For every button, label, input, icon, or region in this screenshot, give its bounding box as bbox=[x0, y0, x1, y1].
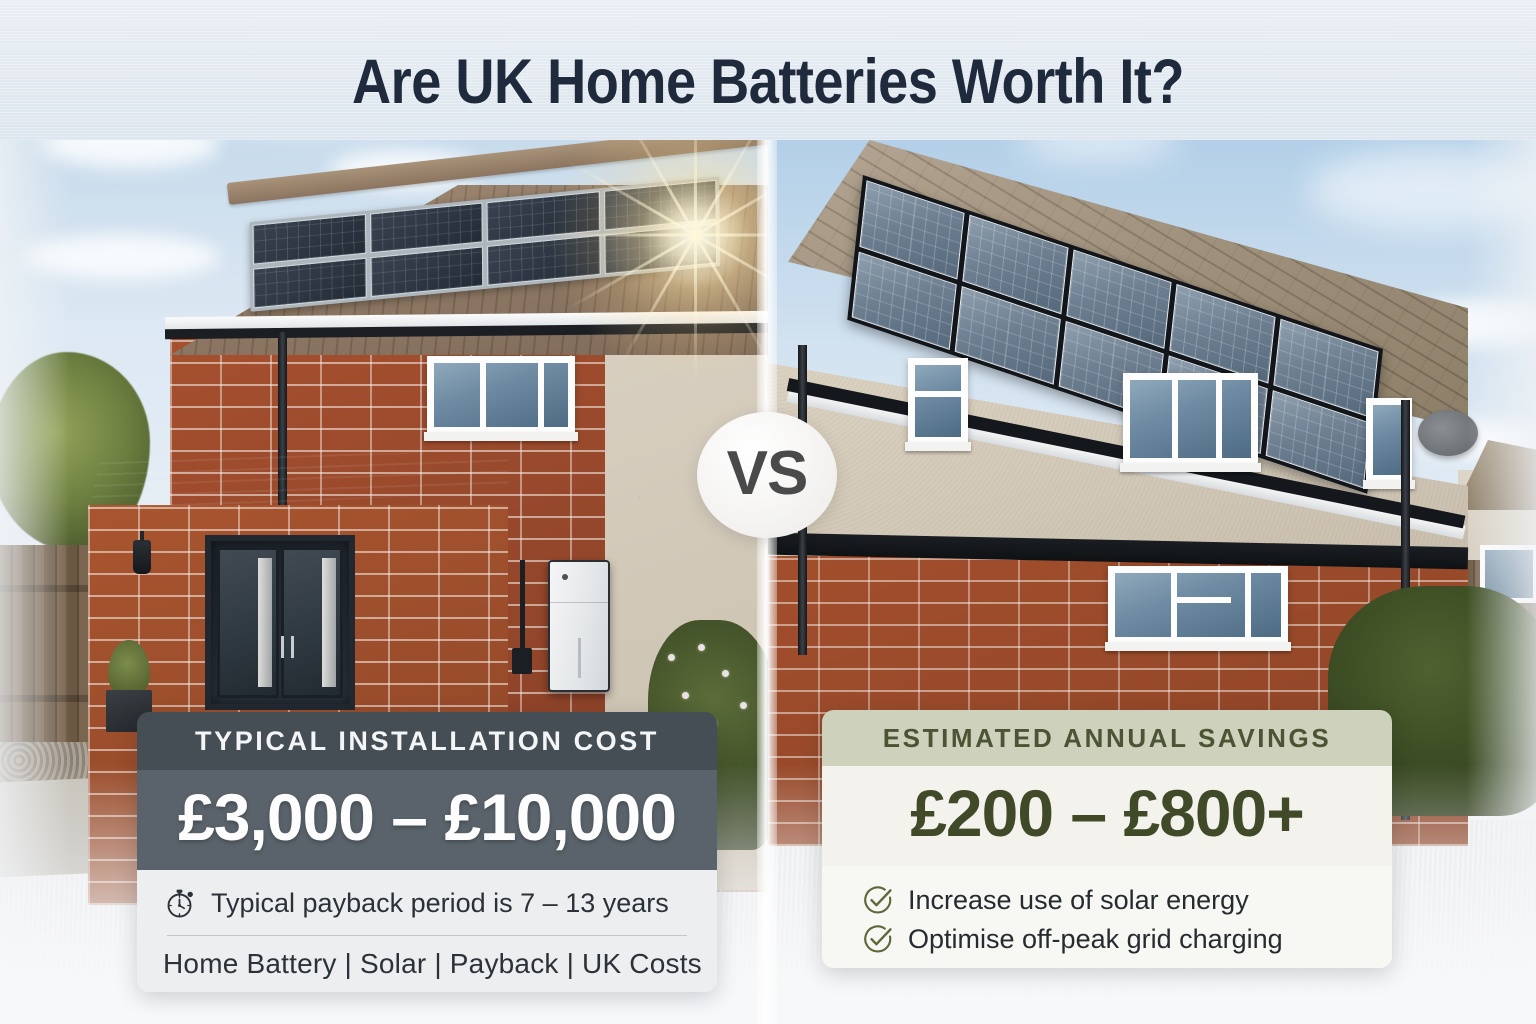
savings-bullet-2: Optimise off-peak grid charging bbox=[862, 923, 1366, 955]
wall-lamp bbox=[133, 540, 151, 574]
savings-bullet-1-text: Increase use of solar energy bbox=[908, 885, 1249, 916]
upstairs-window bbox=[427, 356, 575, 434]
satellite-dish bbox=[1418, 410, 1478, 456]
check-circle-icon bbox=[862, 923, 894, 955]
upstairs-window-centre bbox=[1123, 373, 1258, 465]
home-battery-unit bbox=[548, 560, 610, 692]
check-circle-icon bbox=[862, 884, 894, 916]
payback-note-text: Typical payback period is 7 – 13 years bbox=[211, 888, 669, 919]
payback-note: Typical payback period is 7 – 13 years bbox=[163, 886, 691, 920]
vs-label: VS bbox=[727, 438, 808, 509]
infographic-root: VS Are UK Home Batteries Worth It? TYPIC… bbox=[0, 0, 1536, 1024]
battery-conduit bbox=[520, 560, 525, 652]
annual-savings-card: ESTIMATED ANNUAL SAVINGS £200 – £800+ In… bbox=[822, 710, 1392, 968]
savings-card-header: ESTIMATED ANNUAL SAVINGS bbox=[822, 710, 1392, 766]
vs-badge: VS bbox=[697, 412, 837, 538]
cost-card-body: Typical payback period is 7 – 13 years H… bbox=[137, 870, 717, 992]
card-divider-line bbox=[167, 935, 687, 936]
cost-card-value: £3,000 – £10,000 bbox=[137, 770, 717, 870]
stopwatch-icon bbox=[163, 886, 197, 920]
page-title: Are UK Home Batteries Worth It? bbox=[108, 46, 1429, 118]
upstairs-window-left bbox=[908, 358, 968, 444]
savings-card-value: £200 – £800+ bbox=[822, 766, 1392, 866]
savings-bullet-2-text: Optimise off-peak grid charging bbox=[908, 924, 1283, 955]
isolator-box bbox=[512, 648, 532, 674]
installation-cost-card: TYPICAL INSTALLATION COST £3,000 – £10,0… bbox=[137, 712, 717, 992]
cost-card-header: TYPICAL INSTALLATION COST bbox=[137, 712, 717, 770]
cost-card-tags: Home Battery | Solar | Payback | UK Cost… bbox=[163, 948, 691, 980]
savings-bullet-1: Increase use of solar energy bbox=[862, 884, 1366, 916]
ground-floor-window bbox=[1108, 566, 1288, 644]
patio-doors bbox=[205, 535, 355, 710]
savings-card-body: Increase use of solar energy Optimise of… bbox=[822, 866, 1392, 968]
